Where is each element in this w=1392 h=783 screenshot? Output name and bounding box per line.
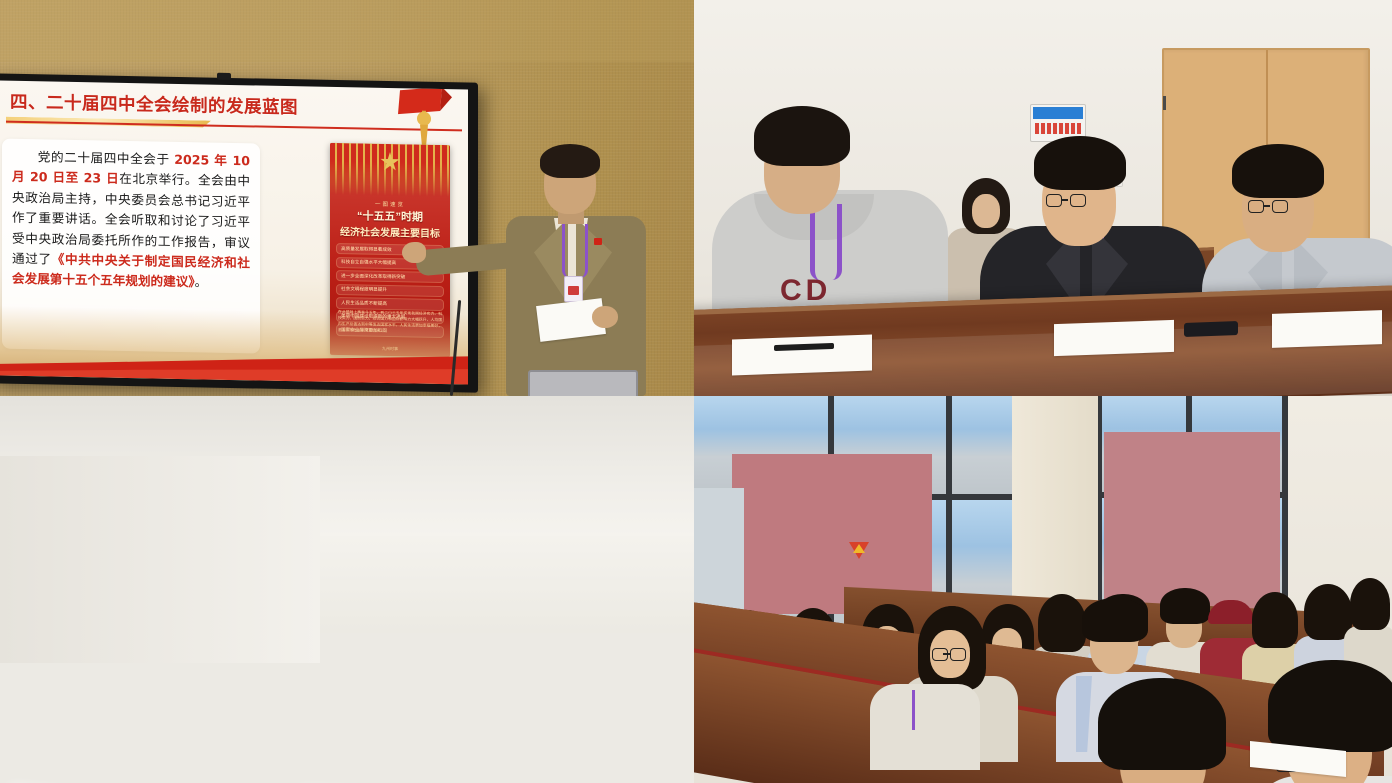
list-item: 人民生活品质不断提高 [336,297,444,310]
glasses-icon [1248,200,1314,214]
slide-red-rule [6,121,462,132]
attendee-hair [754,106,850,166]
panel-label-strip [1033,107,1083,119]
panel-room-overview: 四、二十届四中全会绘制的发展蓝图 全员覆盖的宣传 [0,396,694,783]
lanyard [810,204,842,280]
presenter-hand [592,306,618,328]
paper-sheet [732,335,872,376]
presenter-pointing-hand [402,242,426,263]
presenter-badge [564,276,583,302]
presenter-person [482,142,672,396]
slide-text-seg-1: 党的二十届四中全会于 [37,149,174,167]
paper-notebook [1054,320,1174,356]
wall-upper-band [0,0,694,62]
photo-collage: 四、二十届四中全会绘制的发展蓝图 党的二十届四中全会于 2025 年 10 月 … [0,0,1392,783]
list-item: 社会文明程度明显提升 [336,284,444,297]
glasses-icon [1046,194,1112,208]
attendee-hair [1232,144,1324,198]
poster-flag-spikes [330,143,450,197]
presentation-slide: 四、二十届四中全会绘制的发展蓝图 党的二十届四中全会于 2025 年 10 月 … [0,80,468,384]
attendee-hair [1252,592,1298,648]
flag-pin-icon [594,238,602,245]
attendee-hair [1034,136,1126,190]
attendee-hair [1082,598,1148,642]
exterior-building [694,488,744,618]
panel-students-windows [694,396,1392,783]
slide-title: 四、二十届四中全会绘制的发展蓝图 [10,89,298,120]
smartphone[interactable] [1184,321,1238,337]
attendee-hair [1268,660,1392,752]
tv-camera-icon [217,73,231,80]
lanyard [912,690,925,730]
attendee-hair [1098,678,1226,770]
left-wall [0,456,320,663]
paper-notebook [1272,310,1382,348]
attendee-hair [1350,578,1390,630]
door-hinge [1163,96,1166,110]
warning-sign-icon [849,542,869,559]
attendee-writing [870,608,980,758]
presenter-lanyard [562,224,588,278]
attendee-top [870,684,980,770]
slide-header: 四、二十届四中全会绘制的发展蓝图 [0,80,468,135]
presenter-hair [540,144,600,178]
presenter-laptop [528,370,638,396]
panel-speaker-with-slide: 四、二十届四中全会绘制的发展蓝图 党的二十届四中全会于 2025 年 10 月 … [0,0,694,396]
panel-seated-attendees: CD [694,0,1392,396]
slide-text-seg-5: 。 [195,275,208,290]
wall-mounted-tv: 四、二十届四中全会绘制的发展蓝图 党的二十届四中全会于 2025 年 10 月 … [0,73,478,392]
poster-title-line2: 经济社会发展主要目标 [330,223,450,240]
